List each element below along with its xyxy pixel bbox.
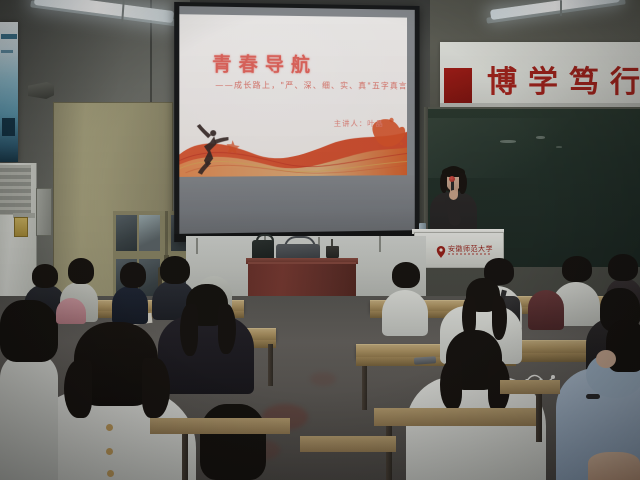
air-conditioner-label — [14, 217, 28, 237]
floor-stain — [310, 372, 336, 386]
projection-screen: 青春导航 ——成长路上，"严、深、细、实、真"五字真言 主讲人：叶晶 — [174, 2, 419, 242]
lecturer-hair-left — [440, 173, 447, 193]
microphone-head — [449, 176, 455, 182]
wrist-band — [586, 394, 600, 399]
blouse-button — [106, 448, 113, 455]
student-hand — [596, 350, 616, 368]
poster-image-chip — [2, 118, 15, 136]
bench-leg — [182, 434, 188, 480]
slide-presenter: 主讲人：叶晶 — [334, 118, 384, 129]
poster-band — [1, 34, 17, 39]
wall-poster-icon — [0, 22, 18, 162]
whiteboard-hook — [196, 238, 198, 254]
presentation-slide: 青春导航 ——成长路上，"严、深、细、实、真"五字真言 主讲人：叶晶 — [179, 14, 407, 177]
projection-screen-lower-blank — [179, 175, 414, 238]
desk-leg — [362, 366, 367, 410]
bench-seat-right — [374, 408, 538, 426]
wall-junction-box — [36, 188, 52, 236]
blouse-button — [107, 470, 114, 477]
university-emblem-icon — [436, 243, 446, 255]
slide-title: 青春导航 — [212, 49, 317, 77]
bag-icon — [252, 240, 274, 260]
poster-band-secondary — [1, 50, 13, 53]
podium-logo-underline — [448, 253, 490, 255]
blouse-button — [106, 424, 113, 431]
bench-seat-left — [150, 418, 290, 434]
chalk-mark — [556, 146, 562, 148]
slide-subtitle: ——成长路上，"严、深、细、实、真"五字真言 — [215, 80, 407, 92]
bench-leg — [536, 392, 542, 442]
bench-leg — [386, 426, 392, 480]
whiteboard-hook — [379, 236, 381, 252]
wall-banner-text: 博学笃行 — [487, 57, 640, 101]
classroom-photo-scene: 青春导航 ——成长路上，"严、深、细、实、真"五字真言 主讲人：叶晶 博学笃行 — [0, 0, 640, 480]
chalk-mark — [500, 140, 516, 143]
desk-leg — [268, 344, 273, 386]
door-upper-glass-left — [116, 215, 160, 251]
lamp-stem-right — [560, 0, 562, 16]
bench-seat-far-right — [500, 380, 560, 394]
lecturer-hand — [449, 190, 458, 200]
bench-seat-center — [300, 436, 396, 452]
banner-accent-square — [444, 68, 472, 105]
chalk-mark — [536, 136, 545, 139]
air-conditioner-grille — [0, 165, 31, 215]
